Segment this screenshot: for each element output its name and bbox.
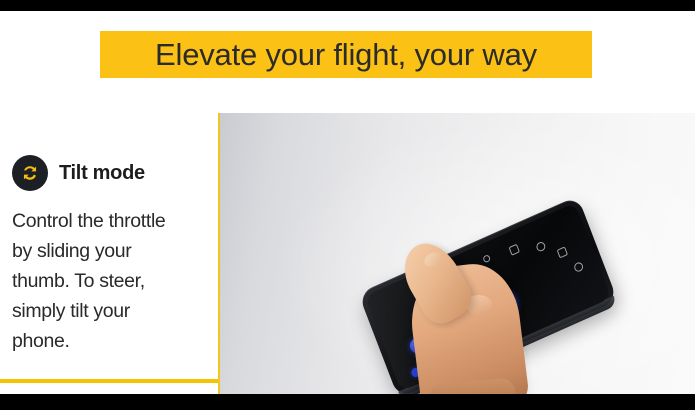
feature-description-line: Control the throttle bbox=[12, 206, 214, 236]
feature-title: Tilt mode bbox=[59, 162, 145, 185]
headline-text: Elevate your flight, your way bbox=[155, 39, 537, 70]
feature-description-line: by sliding your bbox=[12, 236, 214, 266]
feature-panel: Tilt mode Control the throttle by slidin… bbox=[0, 150, 220, 395]
feature-description: Control the throttle by sliding your thu… bbox=[0, 206, 220, 356]
yellow-divider-rule bbox=[0, 379, 218, 383]
sync-arrows-icon bbox=[12, 155, 48, 191]
demo-scene bbox=[218, 113, 695, 394]
feature-description-line: simply tilt your bbox=[12, 296, 214, 326]
hand bbox=[218, 113, 695, 394]
feature-description-line: phone. bbox=[12, 326, 214, 356]
screenshot-stage: Elevate your flight, your way Tilt mode … bbox=[0, 0, 695, 410]
letterbox-bar-bottom bbox=[0, 394, 695, 410]
feature-description-line: thumb. To steer, bbox=[12, 266, 214, 296]
tilt-mode-demo-video[interactable] bbox=[218, 113, 695, 394]
feature-heading-row: Tilt mode bbox=[0, 150, 220, 196]
headline-banner: Elevate your flight, your way bbox=[100, 31, 592, 78]
letterbox-bar-top bbox=[0, 0, 695, 11]
